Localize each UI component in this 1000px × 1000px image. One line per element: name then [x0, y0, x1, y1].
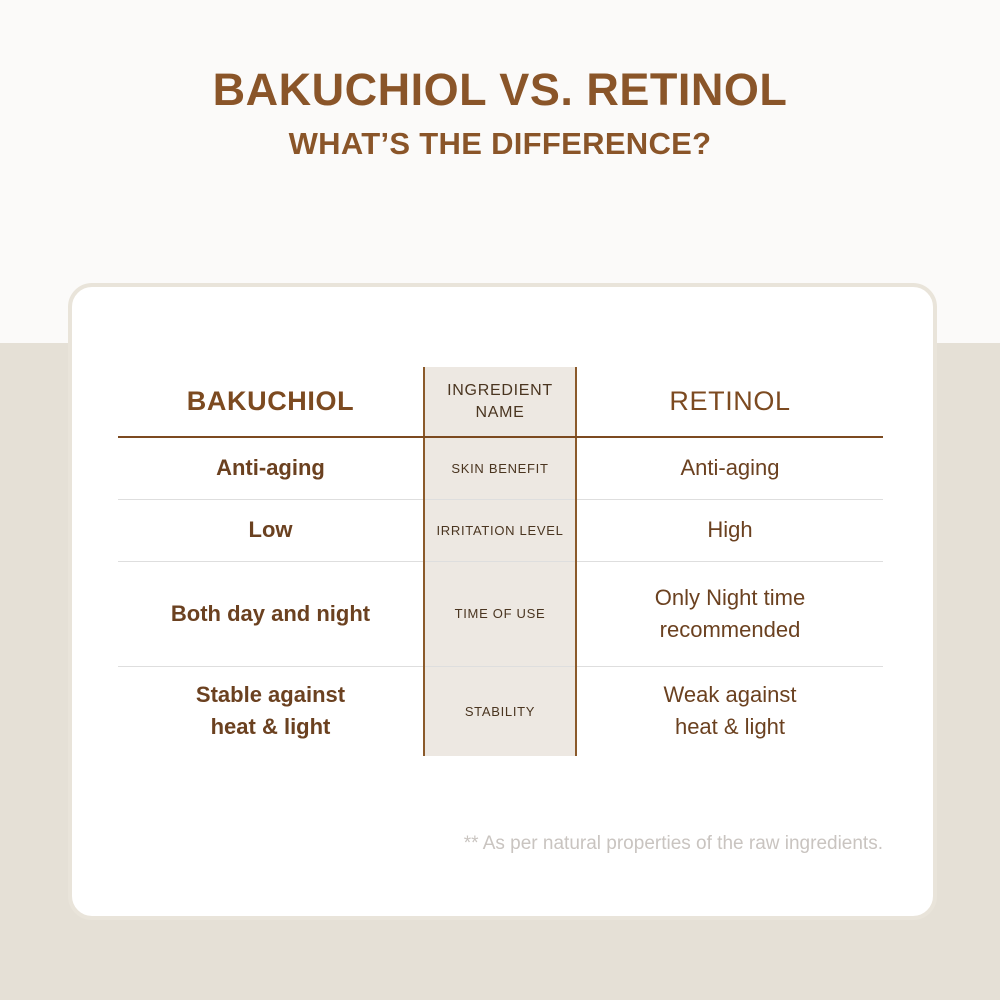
cell-retinol-skin-benefit: Anti-aging	[576, 437, 883, 499]
column-header-retinol: RETINOL	[576, 367, 883, 437]
cell-attribute-time-of-use: TIME OF USE	[424, 561, 576, 666]
cell-bakuchiol-stability-line1: Stable against	[196, 682, 345, 707]
cell-retinol-stability: Weak against heat & light	[576, 666, 883, 756]
column-header-ingredient-name: INGREDIENT NAME	[424, 367, 576, 437]
cell-bakuchiol-time-of-use: Both day and night	[118, 561, 424, 666]
column-header-ingredient-name-line2: NAME	[475, 404, 524, 421]
cell-attribute-skin-benefit: SKIN BENEFIT	[424, 437, 576, 499]
cell-retinol-stability-line2: heat & light	[675, 714, 785, 739]
table-row: Anti-aging SKIN BENEFIT Anti-aging	[118, 437, 883, 499]
page-title: BAKUCHIOL VS. RETINOL	[0, 66, 1000, 113]
comparison-table-wrapper: BAKUCHIOL INGREDIENT NAME RETINOL Anti-a…	[118, 367, 883, 757]
comparison-table: BAKUCHIOL INGREDIENT NAME RETINOL Anti-a…	[118, 367, 883, 756]
cell-retinol-stability-line1: Weak against	[664, 682, 797, 707]
column-header-bakuchiol: BAKUCHIOL	[118, 367, 424, 437]
cell-attribute-irritation-level: IRRITATION LEVEL	[424, 499, 576, 561]
footnote-text: ** As per natural properties of the raw …	[118, 833, 883, 855]
table-header-row: BAKUCHIOL INGREDIENT NAME RETINOL	[118, 367, 883, 437]
table-row: Stable against heat & light STABILITY We…	[118, 666, 883, 756]
infographic-page: BAKUCHIOL VS. RETINOL WHAT’S THE DIFFERE…	[0, 0, 1000, 1000]
cell-bakuchiol-stability-line2: heat & light	[211, 714, 331, 739]
cell-bakuchiol-skin-benefit: Anti-aging	[118, 437, 424, 499]
table-row: Low IRRITATION LEVEL High	[118, 499, 883, 561]
page-subtitle: WHAT’S THE DIFFERENCE?	[0, 128, 1000, 161]
cell-retinol-time-of-use-line1: Only Night time	[655, 585, 805, 610]
cell-retinol-time-of-use: Only Night time recommended	[576, 561, 883, 666]
cell-bakuchiol-irritation-level: Low	[118, 499, 424, 561]
table-row: Both day and night TIME OF USE Only Nigh…	[118, 561, 883, 666]
cell-retinol-time-of-use-line2: recommended	[660, 617, 801, 642]
column-header-ingredient-name-line1: INGREDIENT	[447, 382, 553, 399]
title-block: BAKUCHIOL VS. RETINOL WHAT’S THE DIFFERE…	[0, 66, 1000, 161]
cell-attribute-stability: STABILITY	[424, 666, 576, 756]
cell-bakuchiol-stability: Stable against heat & light	[118, 666, 424, 756]
cell-retinol-irritation-level: High	[576, 499, 883, 561]
